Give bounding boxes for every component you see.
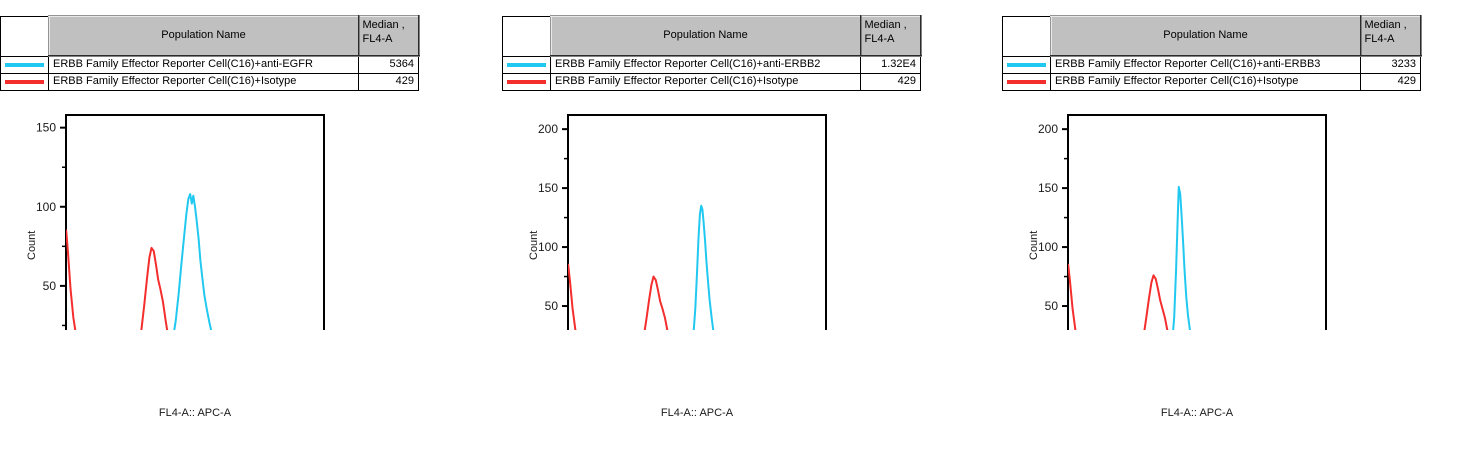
histogram-plot: 05010015010¹10²10³10⁴10⁵10⁶10⁷	[0, 0, 400, 330]
panel-erbb3: Population NameMedian ,FL4-AERBB Family …	[1002, 0, 1476, 452]
y-tick-label: 200	[1038, 122, 1058, 136]
histogram-plot: 05010015020010¹10²10³10⁴10⁵10⁶10⁷	[1002, 0, 1402, 330]
y-tick-label: 150	[1038, 181, 1058, 195]
y-tick-label: 50	[545, 299, 559, 313]
plot-area: 05010015020010¹10²10³10⁴10⁵10⁶10⁷FL4-A::…	[502, 0, 902, 452]
plot-area: 05010015020010¹10²10³10⁴10⁵10⁶10⁷FL4-A::…	[1002, 0, 1402, 452]
y-axis-title: Count	[1028, 231, 1040, 260]
histogram-plot: 05010015020010¹10²10³10⁴10⁵10⁶10⁷	[502, 0, 902, 330]
y-tick-label: 100	[1038, 240, 1058, 254]
x-axis-title: FL4-A:: APC-A	[1068, 407, 1326, 419]
y-axis-title: Count	[528, 231, 540, 260]
y-axis: 050100150	[36, 121, 66, 330]
panel-erbb2: Population NameMedian ,FL4-AERBB Family …	[502, 0, 994, 452]
figure-root: Population NameMedian ,FL4-AERBB Family …	[0, 0, 1476, 452]
y-axis: 050100150200	[1038, 122, 1068, 330]
x-axis-title: FL4-A:: APC-A	[66, 407, 324, 419]
y-tick-label: 100	[538, 240, 558, 254]
plot-frame	[568, 115, 826, 330]
y-tick-label: 150	[36, 121, 56, 135]
y-tick-label: 200	[538, 122, 558, 136]
plot-frame	[1068, 115, 1326, 330]
y-tick-label: 150	[538, 181, 558, 195]
plot-area: 05010015010¹10²10³10⁴10⁵10⁶10⁷FL4-A:: AP…	[0, 0, 400, 452]
plot-frame	[66, 115, 324, 330]
y-tick-label: 100	[36, 200, 56, 214]
y-tick-label: 50	[1045, 299, 1059, 313]
y-tick-label: 50	[43, 279, 57, 293]
panel-egfr: Population NameMedian ,FL4-AERBB Family …	[0, 0, 492, 452]
x-axis-title: FL4-A:: APC-A	[568, 407, 826, 419]
y-axis-title: Count	[26, 231, 38, 260]
y-axis: 050100150200	[538, 122, 568, 330]
